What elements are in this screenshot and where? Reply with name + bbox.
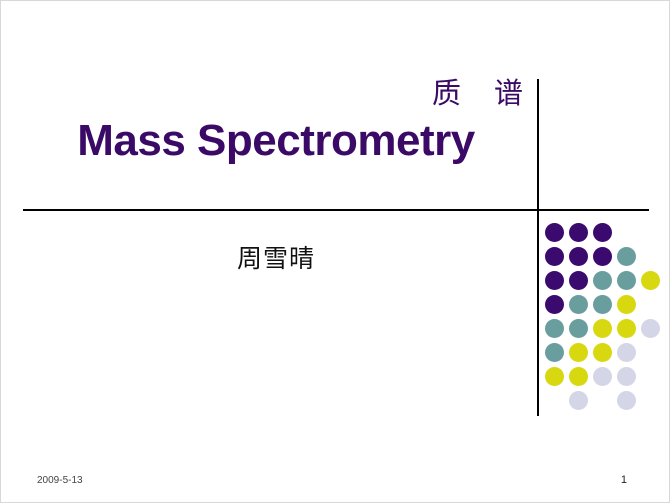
title-block: 质 谱 Mass Spectrometry [23, 73, 529, 169]
dot-grid-decoration [545, 223, 663, 391]
dot-purple [569, 271, 588, 290]
dot-purple [593, 247, 612, 266]
dot-teal [617, 271, 636, 290]
dot-lavender [593, 367, 612, 386]
dot-purple [593, 223, 612, 242]
dot-lavender [641, 319, 660, 338]
dot-teal [569, 319, 588, 338]
dot-yellow [617, 295, 636, 314]
dot-teal [545, 343, 564, 362]
dot-yellow [593, 343, 612, 362]
dot-yellow [593, 319, 612, 338]
slide-canvas: 质 谱 Mass Spectrometry 周雪晴 2009-5-13 1 [0, 0, 670, 503]
dot-teal [617, 247, 636, 266]
horizontal-divider [23, 209, 649, 211]
footer-date: 2009-5-13 [37, 475, 83, 486]
dot-yellow [617, 319, 636, 338]
dot-purple [569, 247, 588, 266]
dot-lavender [617, 343, 636, 362]
dot-lavender [569, 391, 588, 410]
dot-teal [545, 319, 564, 338]
dot-purple [545, 271, 564, 290]
dot-teal [593, 271, 612, 290]
dot-purple [545, 247, 564, 266]
dot-purple [569, 223, 588, 242]
vertical-divider [537, 79, 539, 416]
dot-teal [593, 295, 612, 314]
dot-purple [545, 295, 564, 314]
page-title-chinese: 质 谱 [23, 73, 529, 113]
dot-teal [569, 295, 588, 314]
dot-yellow [545, 367, 564, 386]
page-title-english: Mass Spectrometry [23, 113, 529, 169]
dot-yellow [569, 343, 588, 362]
dot-yellow [641, 271, 660, 290]
footer-page-number: 1 [621, 474, 627, 486]
author-subtitle: 周雪晴 [23, 239, 529, 275]
dot-yellow [569, 367, 588, 386]
dot-lavender [617, 391, 636, 410]
dot-purple [545, 223, 564, 242]
dot-lavender [617, 367, 636, 386]
